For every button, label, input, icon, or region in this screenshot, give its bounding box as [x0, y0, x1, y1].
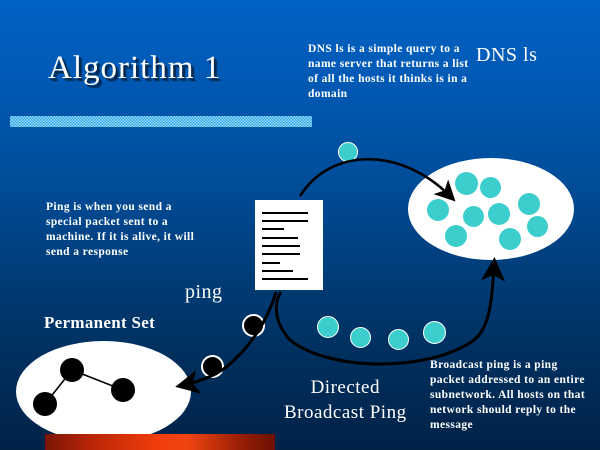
dns-description-text: DNS ls is a simple query to a name serve…	[308, 42, 480, 102]
host-node-5	[488, 203, 510, 225]
host-node-8	[499, 228, 521, 250]
host-node-1	[455, 172, 478, 195]
dns-query-packet-dot	[338, 142, 358, 162]
host-node-3	[427, 199, 449, 221]
reply-packet-dot-1	[242, 314, 265, 337]
dns-ls-label: DNS ls	[476, 43, 537, 67]
reply-packet-dot-2	[201, 355, 224, 378]
broadcast-packet-dot-2	[350, 327, 371, 348]
broadcast-packet-dot-4	[423, 321, 446, 344]
host-node-7	[445, 225, 467, 247]
host-node-6	[518, 193, 540, 215]
permanent-set-label: Permanent Set	[44, 311, 155, 335]
slide-canvas: Algorithm 1 Ping is when you send a spec…	[0, 0, 600, 450]
broadcast-packet-dot-3	[388, 329, 409, 350]
footer-accent-bar	[45, 434, 275, 450]
host-node-2	[480, 177, 501, 198]
reply-to-permanent-set-arrow	[184, 292, 276, 385]
host-node-9	[527, 216, 548, 237]
ping-label: ping	[185, 280, 223, 304]
title-divider-rule	[10, 116, 312, 127]
page-title: Algorithm 1	[48, 50, 221, 87]
ping-description-text: Ping is when you send a special packet s…	[46, 200, 211, 260]
broadcast-description-text: Broadcast ping is a ping packet addresse…	[430, 358, 592, 433]
permanent-set-ellipse	[16, 341, 191, 442]
document-icon	[255, 200, 323, 290]
host-node-4	[463, 206, 484, 227]
broadcast-packet-dot-1	[317, 316, 339, 338]
directed-broadcast-ping-label: Directed Broadcast Ping	[284, 375, 407, 425]
